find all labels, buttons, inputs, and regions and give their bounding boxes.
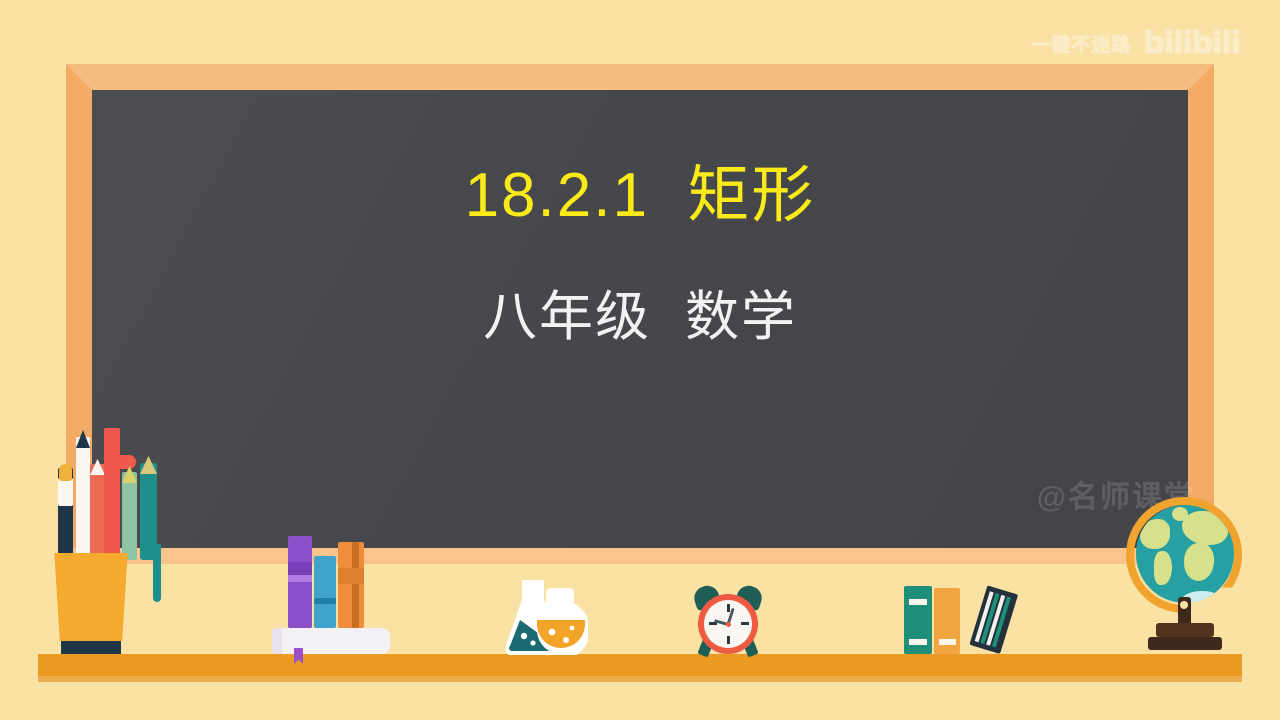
shelf-book-orange-band — [939, 639, 956, 645]
science-flasks — [496, 580, 588, 655]
globe — [1124, 497, 1244, 655]
book-purple — [288, 536, 312, 628]
book-purple-cap — [288, 562, 312, 575]
paintbrush-ferrule — [58, 478, 73, 506]
pencil-green — [122, 472, 137, 560]
shelf-book-teal-band-bottom — [909, 639, 927, 645]
book-orange-cap — [338, 568, 364, 584]
slide-canvas: 一键不迷路 bilibili 18.2.1 矩形 八年级 数学 @名师课堂 — [0, 0, 1280, 720]
marker-red — [104, 428, 120, 560]
clock-tick-12 — [727, 604, 730, 612]
globe-landmass-north-america — [1140, 519, 1170, 549]
book-purple-band — [288, 575, 312, 582]
clock-tick-3 — [741, 622, 749, 625]
globe-landmass-africa — [1184, 543, 1214, 581]
stacked-books — [272, 532, 392, 654]
pencil-cup — [52, 553, 130, 654]
shelf-book-teal-band-top — [909, 599, 927, 605]
clock-center-pin — [726, 622, 731, 627]
globe-base-upper — [1156, 623, 1214, 637]
book-flat-spine — [272, 628, 282, 654]
book-orange — [338, 542, 364, 628]
pen-teal-clip — [153, 544, 161, 602]
lesson-title: 18.2.1 矩形 — [465, 162, 816, 230]
book-flat-white — [272, 628, 390, 654]
cup-body — [52, 553, 130, 641]
book-blue-band — [314, 598, 336, 604]
frame-right-rail — [1188, 64, 1214, 564]
globe-pivot — [1180, 601, 1188, 609]
globe-landmass-greenland — [1172, 507, 1188, 521]
blackboard-frame: 18.2.1 矩形 八年级 数学 @名师课堂 — [66, 64, 1214, 564]
frame-bottom-ledge — [66, 548, 1214, 564]
alarm-clock — [692, 586, 764, 656]
globe-base-lower — [1148, 637, 1222, 650]
paintbrush-tip — [59, 464, 72, 481]
frame-top-rail — [66, 64, 1214, 90]
blackboard-surface: 18.2.1 矩形 八年级 数学 @名师课堂 — [92, 90, 1188, 548]
shelf-board — [38, 654, 1242, 676]
shelf-edge — [38, 676, 1242, 682]
blackboard-text-block: 18.2.1 矩形 八年级 数学 — [92, 90, 1188, 548]
flasks-svg — [496, 580, 588, 655]
cup-base — [61, 641, 121, 654]
globe-landmass-eurasia — [1182, 511, 1228, 545]
pencil-white — [76, 437, 90, 560]
book-blue — [314, 556, 336, 628]
clock-tick-6 — [727, 636, 730, 644]
globe-landmass-south-america — [1154, 551, 1172, 585]
globe-sphere — [1136, 505, 1234, 603]
shelf-books — [900, 584, 1000, 654]
pencil-coral — [90, 464, 105, 560]
book-orange-spine — [352, 542, 359, 628]
lesson-subtitle: 八年级 数学 — [483, 288, 797, 347]
marker-red-hook — [114, 455, 136, 469]
